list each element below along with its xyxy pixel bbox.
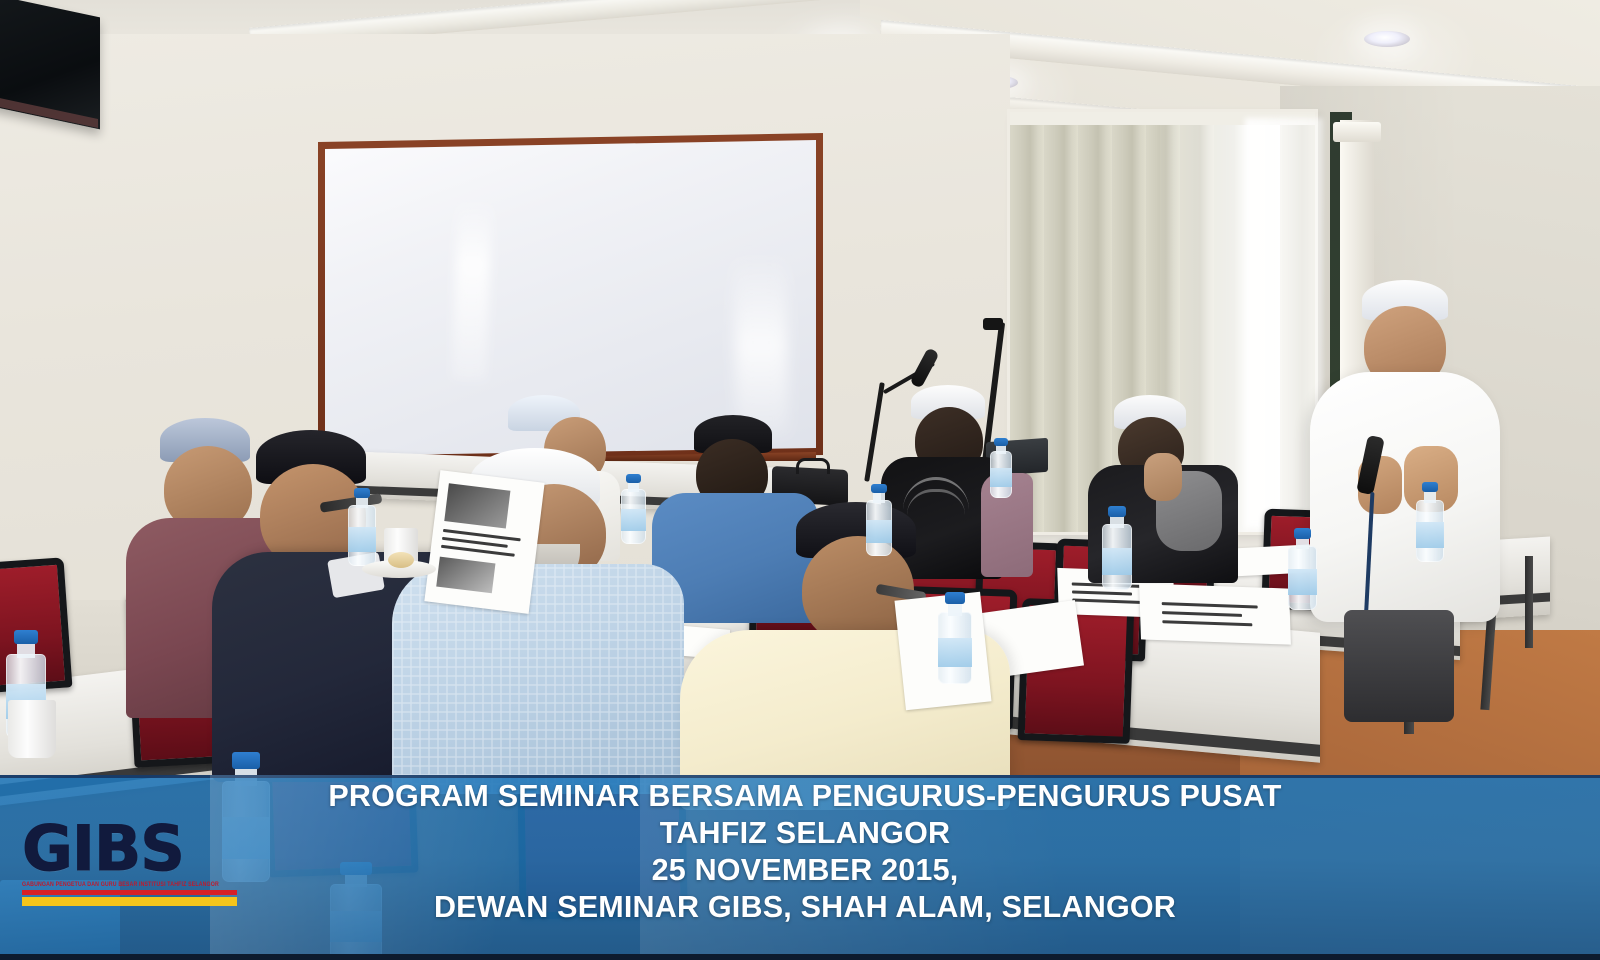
photo-canvas: GIBS GABUNGAN PENGETUA DAN GURU BESAR IN… (0, 0, 1600, 960)
water-bottle[interactable] (938, 592, 972, 684)
whiteboard-glare (452, 199, 492, 380)
caption-line-3: 25 NOVEMBER 2015, (270, 852, 1340, 889)
water-bottle[interactable] (621, 474, 646, 544)
pastry (388, 552, 414, 568)
banner-caption: PROGRAM SEMINAR BERSAMA PENGURUS-PENGURU… (270, 778, 1340, 926)
caption-line-1: PROGRAM SEMINAR BERSAMA PENGURUS-PENGURU… (270, 778, 1340, 815)
handout-image (436, 557, 495, 594)
mic-clip-icon (983, 318, 1003, 330)
handout-held[interactable] (424, 470, 544, 614)
water-bottle[interactable] (1102, 506, 1132, 590)
water-bottle[interactable] (866, 484, 892, 556)
logo-bar-red (22, 890, 237, 895)
downlight-icon (1364, 31, 1410, 47)
water-bottle[interactable] (1416, 482, 1444, 562)
gibs-logo[interactable]: GIBS GABUNGAN PENGETUA DAN GURU BESAR IN… (22, 818, 272, 913)
caption-line-4: DEWAN SEMINAR GIBS, SHAH ALAM, SELANGOR (270, 889, 1340, 926)
gibs-tagline: GABUNGAN PENGETUA DAN GURU BESAR INSTITU… (22, 881, 272, 890)
speaker-trousers (1344, 610, 1454, 722)
water-bottle[interactable] (1288, 528, 1317, 610)
water-bottle[interactable] (990, 438, 1012, 498)
handout-image (444, 483, 510, 528)
pillar-capital (1333, 122, 1381, 142)
gibs-wordmark: GIBS (22, 818, 272, 880)
foam-cup[interactable] (8, 700, 56, 758)
handout[interactable] (1139, 583, 1291, 644)
logo-bar-yellow (22, 897, 237, 906)
attendee-arm (1144, 453, 1182, 501)
person-speaker (1300, 280, 1500, 710)
water-bottle[interactable] (348, 488, 376, 566)
caption-line-2: TAHFIZ SELANGOR (270, 815, 1340, 852)
whiteboard-glare (733, 255, 788, 436)
table-leg (1525, 556, 1533, 648)
